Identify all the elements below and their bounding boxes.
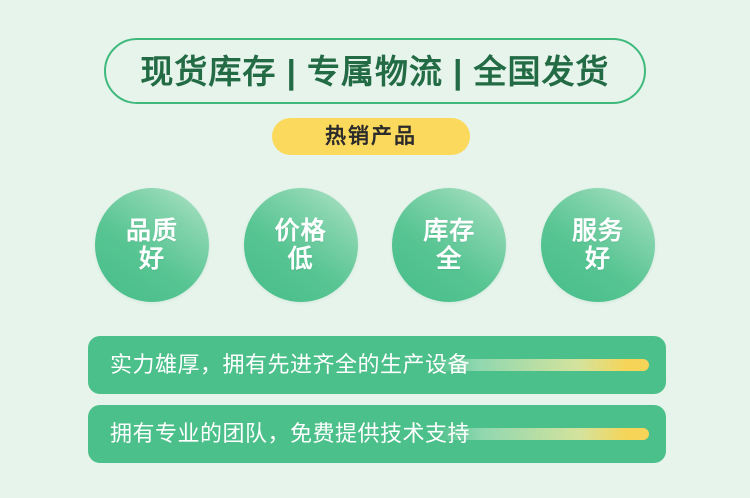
subheading-text: 热销产品 [325, 126, 417, 147]
feature-circle-line-1: 库存 [423, 217, 475, 245]
feature-circle-line-1: 品质 [126, 217, 178, 245]
highlight-bar-text: 实力雄厚，拥有先进齐全的生产设备 [110, 354, 470, 376]
feature-circle-service: 服务 好 [541, 188, 655, 302]
highlight-bar-equipment: 实力雄厚，拥有先进齐全的生产设备 [88, 336, 666, 394]
feature-circle-line-1: 价格 [275, 217, 327, 245]
highlight-bar-support: 拥有专业的团队，免费提供技术支持 [88, 405, 666, 463]
feature-circle-stock: 库存 全 [392, 188, 506, 302]
feature-circle-quality: 品质 好 [95, 188, 209, 302]
highlight-bar-text: 拥有专业的团队，免费提供技术支持 [110, 423, 470, 445]
headline-text: 现货库存 | 专属物流 | 全国发货 [140, 55, 609, 88]
headline-pill: 现货库存 | 专属物流 | 全国发货 [104, 38, 646, 104]
feature-circle-line-2: 全 [436, 245, 462, 273]
feature-circle-line-2: 好 [139, 245, 165, 273]
feature-circle-line-2: 低 [288, 245, 314, 273]
feature-circle-line-2: 好 [585, 245, 611, 273]
feature-circle-line-1: 服务 [572, 217, 624, 245]
subheading-pill: 热销产品 [272, 118, 470, 155]
promo-banner: 现货库存 | 专属物流 | 全国发货 热销产品 品质 好 价格 低 库存 全 服… [0, 0, 750, 498]
feature-circle-price: 价格 低 [244, 188, 358, 302]
feature-circle-group: 品质 好 价格 低 库存 全 服务 好 [95, 186, 655, 304]
